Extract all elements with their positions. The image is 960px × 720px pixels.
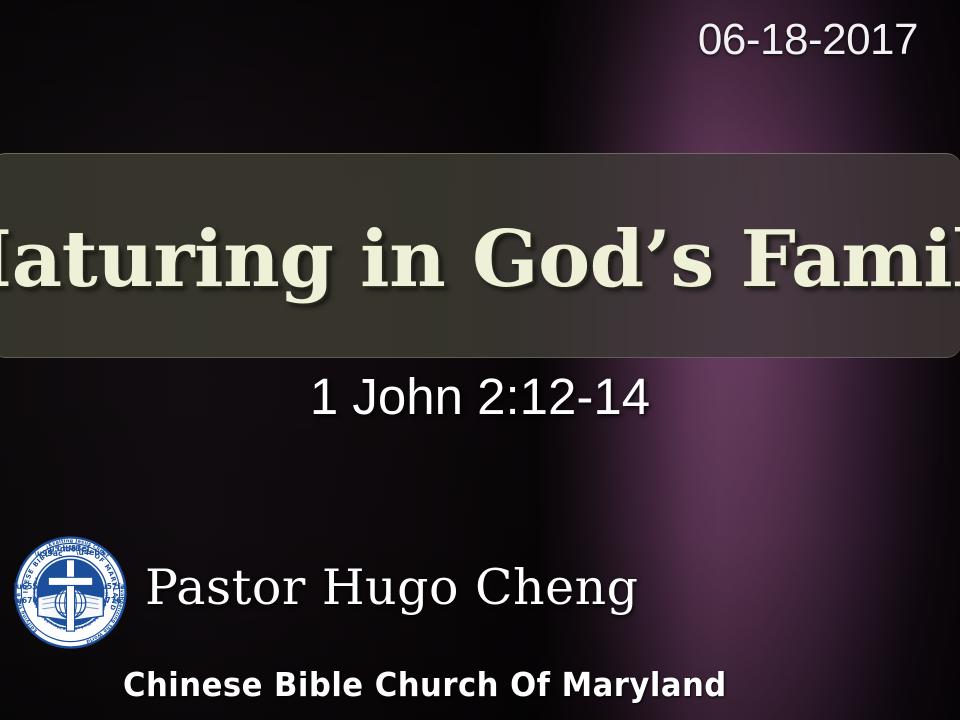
church-name: Chinese Bible Church Of Maryland	[123, 668, 727, 701]
svg-text:\u4eba: \u4eba	[76, 548, 105, 557]
speaker-name: Pastor Hugo Cheng	[145, 563, 639, 612]
slide-date: 06-18-2017	[698, 18, 918, 62]
church-logo: CHINESE BIBLE CHURCH OF MARYLAND Exaltin…	[12, 534, 129, 651]
slide-title: Maturing in God’s Family	[0, 221, 960, 299]
title-panel: Maturing in God’s Family	[0, 153, 960, 358]
presentation-slide: 06-18-2017 Maturing in God’s Family 1 Jo…	[0, 0, 960, 720]
scripture-reference: 1 John 2:12-14	[0, 371, 960, 422]
